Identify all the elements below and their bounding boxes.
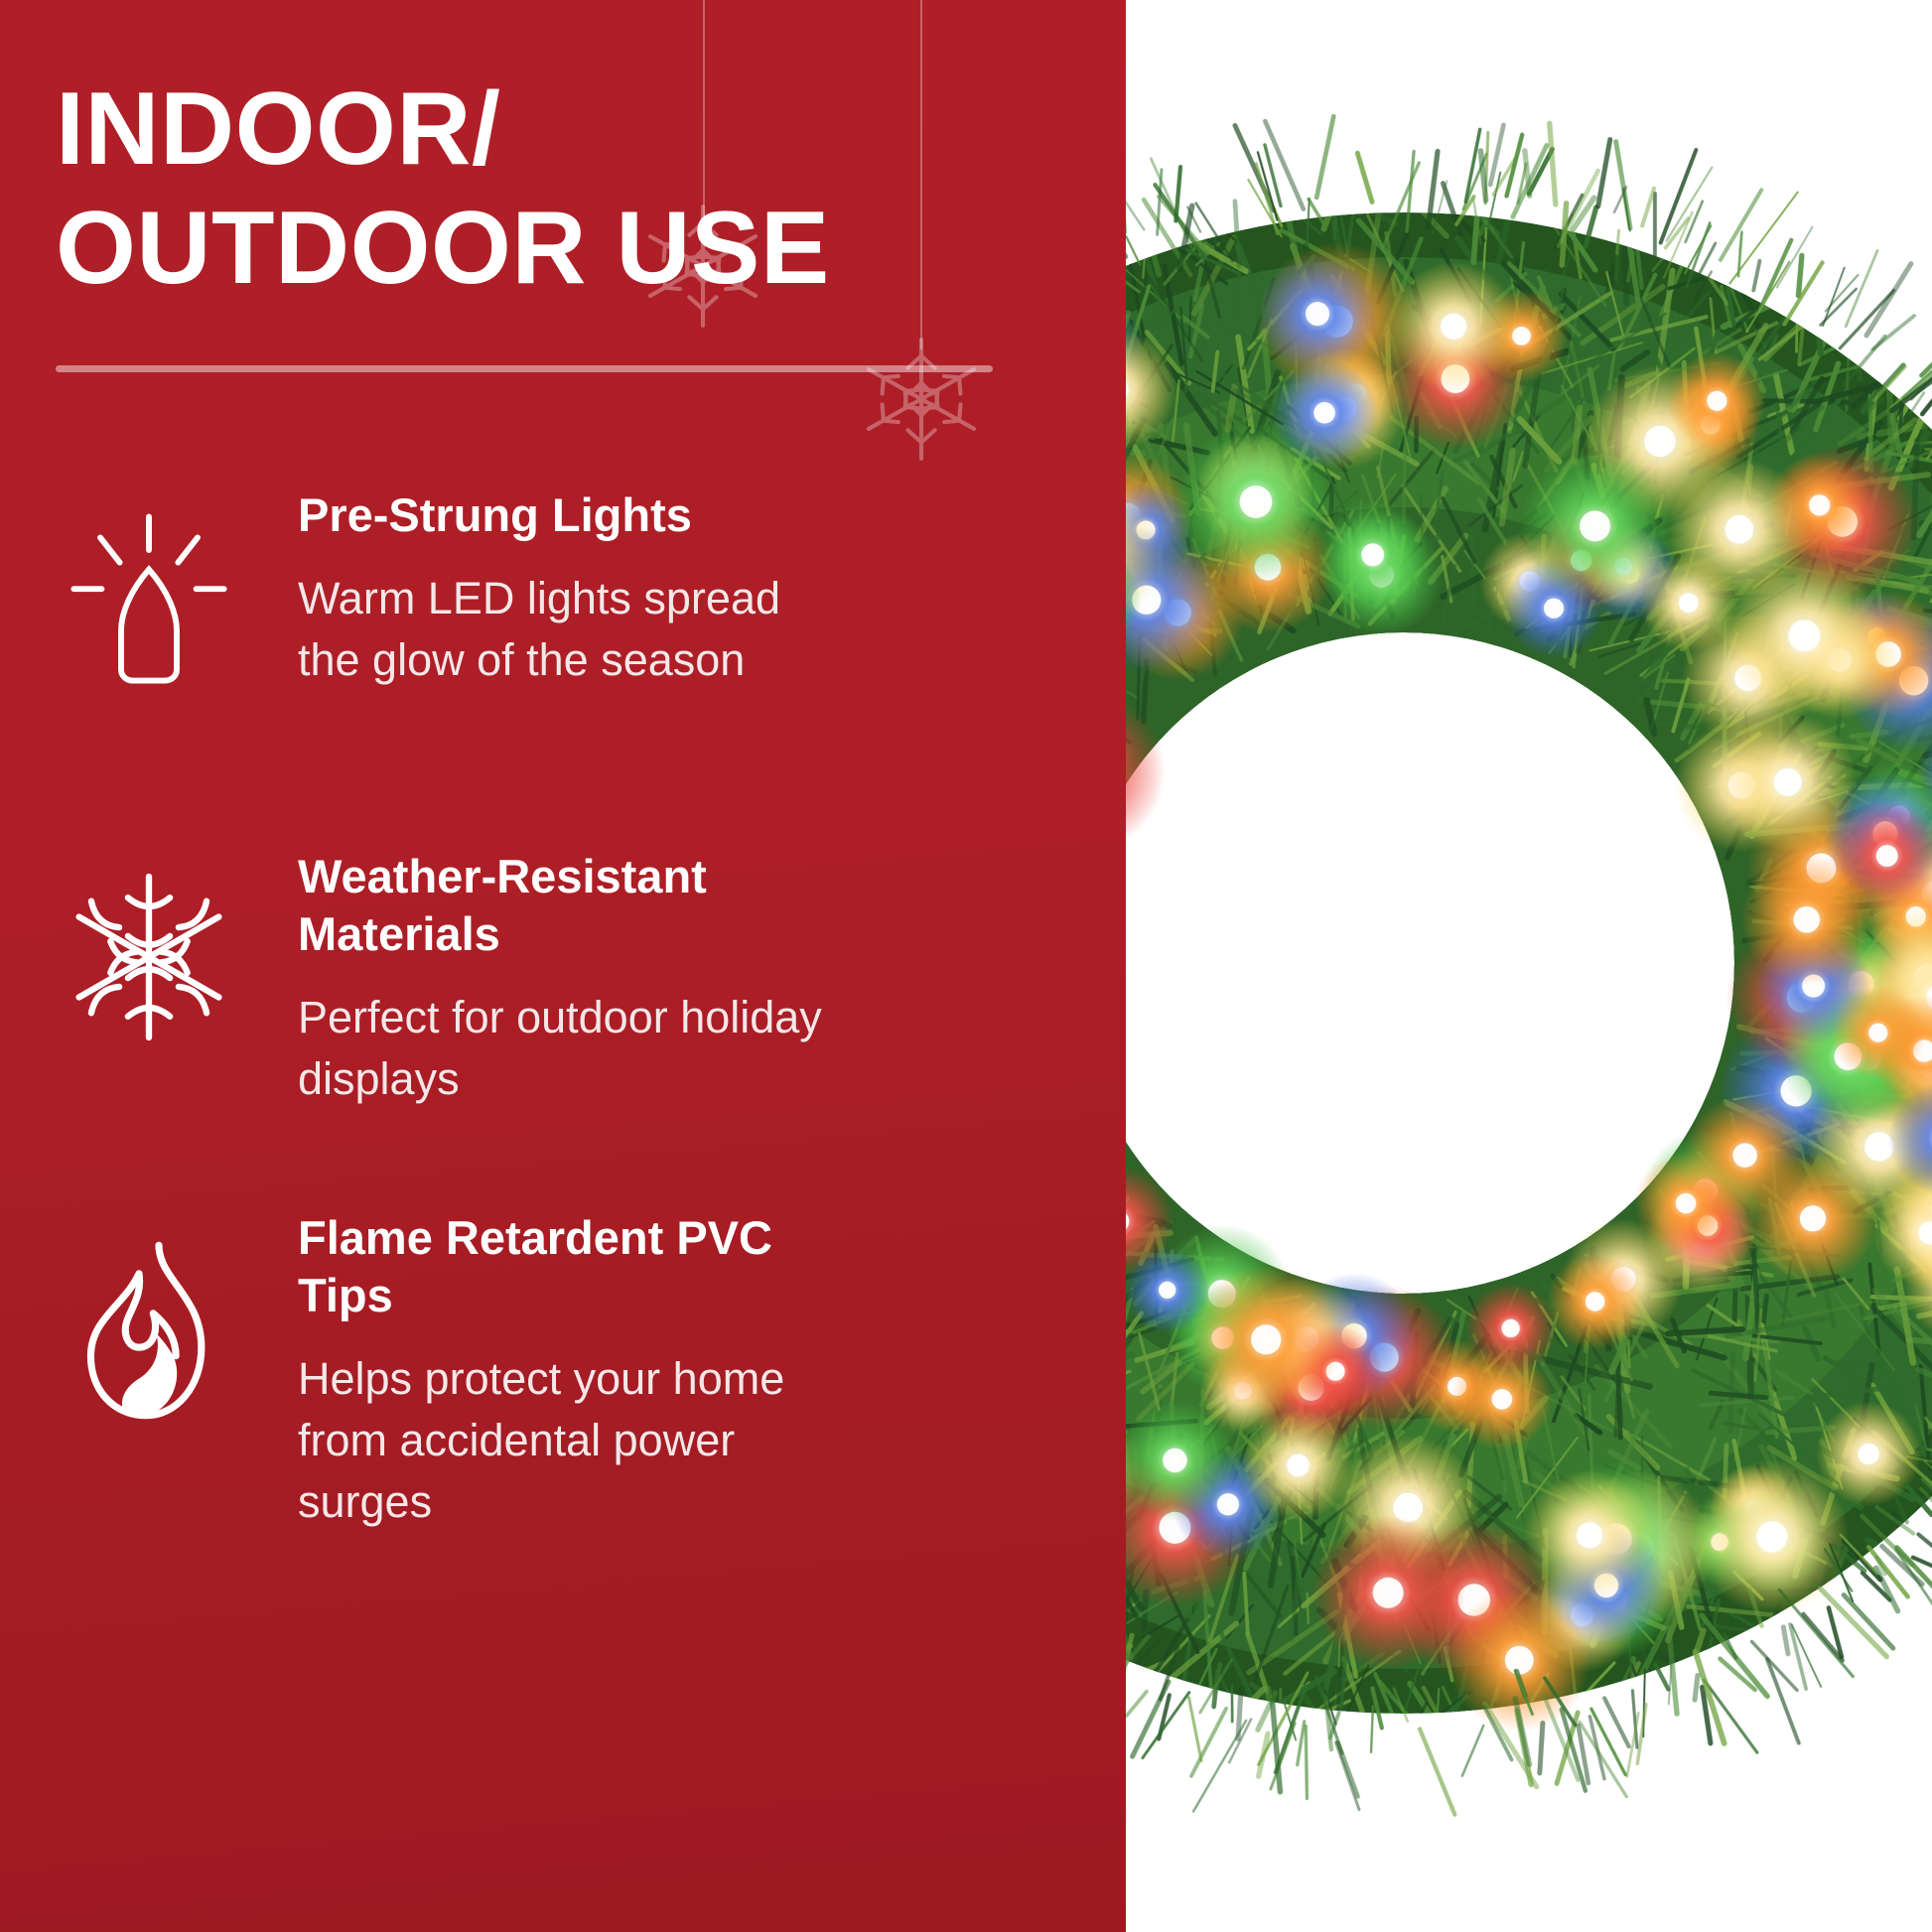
feature-text-block: Weather-Resistant Materials Perfect for … <box>298 848 1066 1110</box>
pre-lit-christmas-wreath <box>1126 69 1932 1857</box>
snowflake-ornament-icon-2 <box>854 332 989 467</box>
feature-heading: Pre-Strung Lights <box>298 486 854 544</box>
page-title: INDOOR/ OUTDOOR USE <box>56 77 1048 300</box>
feature-text-block: Flame Retardent PVC Tips Helps protect y… <box>298 1209 1066 1533</box>
infographic-canvas: INDOOR/ OUTDOOR USE <box>0 0 1932 1932</box>
feature-body: Perfect for outdoor holiday displays <box>298 987 854 1110</box>
left-info-panel: INDOOR/ OUTDOOR USE <box>0 0 1126 1932</box>
title-line-2: OUTDOOR USE <box>56 197 1048 300</box>
feature-item-pre-strung-lights: Pre-Strung Lights Warm LED lights spread… <box>0 486 1126 814</box>
feature-heading: Flame Retardent PVC Tips <box>298 1209 854 1324</box>
title-divider <box>56 365 993 372</box>
feature-text-block: Pre-Strung Lights Warm LED lights spread… <box>298 486 1066 691</box>
title-line-1: INDOOR/ <box>56 77 1048 181</box>
flame-icon <box>0 1209 298 1430</box>
feature-body: Warm LED lights spread the glow of the s… <box>298 568 854 691</box>
feature-item-flame-retardent: Flame Retardent PVC Tips Helps protect y… <box>0 1209 1126 1537</box>
product-image-panel <box>1126 0 1932 1932</box>
light-bulb-icon <box>0 486 298 689</box>
snowflake-icon <box>0 848 298 1044</box>
feature-heading: Weather-Resistant Materials <box>298 848 854 963</box>
feature-body: Helps protect your home from accidental … <box>298 1348 854 1533</box>
feature-item-weather-resistant: Weather-Resistant Materials Perfect for … <box>0 848 1126 1175</box>
feature-list: Pre-Strung Lights Warm LED lights spread… <box>0 486 1126 1537</box>
